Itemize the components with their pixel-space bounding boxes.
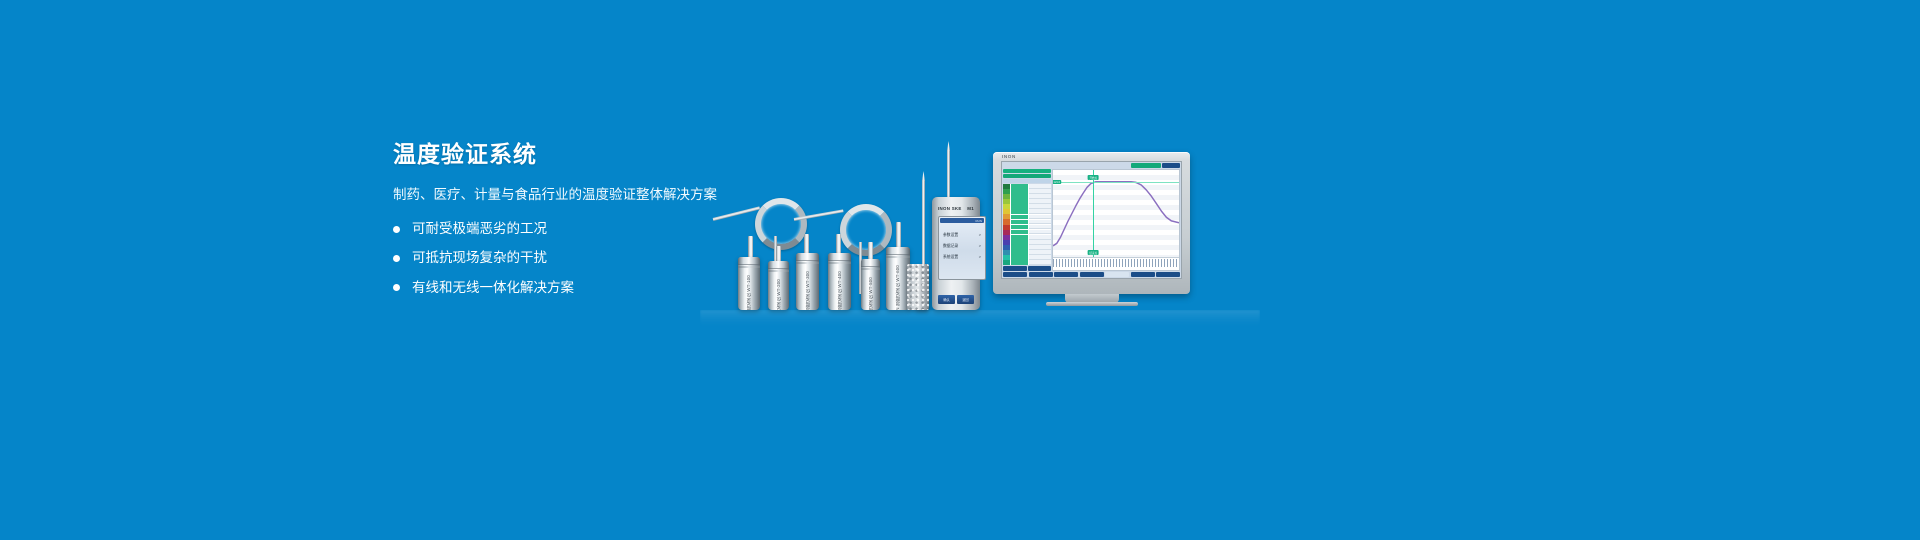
data-logger: INON 温度记录仪 WT-400 (828, 253, 851, 310)
chart-marker-start: 开始点 (1088, 175, 1099, 180)
probe-tail (713, 206, 760, 220)
temperature-chart: 开始点 结束点 121.0 (1053, 170, 1179, 257)
logger-stud (868, 242, 873, 260)
feature-text: 可耐受极端恶劣的工况 (412, 221, 547, 237)
logger-label: INON 温度记录仪 WT-500 (867, 277, 873, 310)
collect-data-button[interactable] (1003, 272, 1027, 277)
handheld-model: M1 (967, 206, 974, 211)
logger-ring (768, 270, 789, 272)
chart-setpoint-label: 121.0 (1053, 180, 1062, 184)
data-logger: INON 温度记录仪 WT-100 (738, 257, 760, 310)
settings-button[interactable] (1054, 272, 1078, 277)
coil-probe-2 (840, 204, 892, 256)
help-button[interactable] (1131, 272, 1155, 277)
logger-ring (738, 266, 760, 268)
porous-filter-probe (907, 264, 929, 310)
logger-label: INON 温度记录仪 WT-600 (895, 265, 901, 310)
chart-series-line (1053, 182, 1179, 246)
channel-value-column (1029, 184, 1051, 265)
chevron-right-icon: > (979, 233, 981, 238)
probe-coil-ring (755, 198, 807, 250)
toolbar-gap (1105, 272, 1129, 277)
logger-ring (861, 268, 880, 270)
handheld-menu-item[interactable]: 系统设置 > (943, 255, 981, 260)
logger-stud (836, 234, 841, 254)
chevron-right-icon: > (979, 255, 981, 260)
logger-stud (896, 222, 901, 248)
cursor-line[interactable] (1093, 170, 1094, 257)
tab-exit[interactable] (1162, 163, 1180, 168)
channel-table-panel (1003, 169, 1051, 271)
handheld-brand-row: INON SKE M1 (932, 206, 980, 211)
bullet-dot-icon (393, 255, 400, 262)
data-logger: INON 温度记录仪 WT-300 (796, 253, 819, 310)
table-header-row (1003, 179, 1051, 183)
channel-color-column (1003, 184, 1010, 265)
print-button[interactable] (1080, 272, 1104, 277)
logger-label: INON 温度记录仪 WT-300 (804, 271, 810, 310)
monitor-display: INON (993, 152, 1190, 294)
software-window: 开始点 结束点 121.0 (1001, 161, 1182, 279)
monitor-base (1046, 302, 1138, 306)
tab-verification-software[interactable] (1131, 163, 1161, 168)
handheld-status-bar: RUN (940, 218, 984, 223)
logger-label: INON 温度记录仪 WT-200 (775, 279, 781, 310)
handheld-menu: 参数设置 > 数据记录 > 系统设置 > (939, 224, 985, 279)
table-title-bar (1003, 169, 1051, 173)
probe-coil-ring (840, 204, 892, 256)
handheld-status: RUN (976, 219, 983, 223)
monitor-brand-logo: INON (1002, 154, 1016, 159)
hero-banner: 温度验证系统 制药、医疗、计量与食品行业的温度验证整体解决方案 可耐受极端恶劣的… (0, 0, 1920, 540)
logger-cap (828, 253, 851, 261)
handheld-screen: RUN 参数设置 > 数据记录 > 系统设置 > (938, 216, 986, 280)
logger-ring (886, 256, 910, 258)
logger-stud (748, 236, 753, 258)
chart-marker-end: 结束点 (1088, 250, 1099, 255)
menu-label: 系统设置 (943, 255, 958, 260)
handheld-keypad: 确认 返回 (938, 295, 974, 304)
menu-label: 参数设置 (943, 233, 958, 238)
logger-label: INON 温度记录仪 WT-400 (836, 271, 842, 310)
software-bottom-toolbar (1002, 271, 1181, 278)
logger-ring (796, 262, 819, 264)
product-reflection (700, 310, 1260, 334)
feature-text: 可抵抗现场复杂的干扰 (412, 250, 547, 266)
logger-ring (828, 262, 851, 264)
handheld-back-button[interactable]: 返回 (957, 295, 974, 304)
table-subtitle-bar (1003, 174, 1051, 178)
menu-label: 数据记录 (943, 244, 958, 249)
coil-probe-1 (755, 198, 807, 250)
report-output-button[interactable] (1029, 272, 1053, 277)
chart-x-axis (1053, 257, 1179, 270)
feature-text: 有线和无线一体化解决方案 (412, 280, 574, 296)
bullet-dot-icon (393, 226, 400, 233)
logger-cap (796, 253, 819, 261)
toolbar-spacer (1003, 163, 1130, 168)
channel-table[interactable] (1003, 184, 1051, 265)
logger-cap (768, 261, 789, 269)
chart-panel: 开始点 结束点 121.0 (1052, 169, 1180, 271)
handheld-menu-item[interactable]: 参数设置 > (943, 233, 981, 238)
data-logger: INON 温度记录仪 WT-200 (768, 261, 789, 310)
handheld-confirm-button[interactable]: 确认 (938, 295, 955, 304)
logger-label: INON 温度记录仪 WT-100 (746, 275, 752, 310)
logger-cap (861, 259, 880, 267)
exit-button[interactable] (1156, 272, 1180, 277)
handheld-brand: INON SKE (938, 206, 962, 211)
logger-stud (776, 246, 781, 262)
channel-status-column (1011, 184, 1028, 265)
software-body: 开始点 结束点 121.0 (1002, 169, 1181, 271)
data-logger: INON 温度记录仪 WT-500 (861, 259, 880, 310)
logger-cap (738, 257, 760, 265)
setpoint-line (1053, 182, 1179, 183)
logger-stud (804, 234, 809, 254)
logger-cap (886, 247, 910, 255)
handheld-reader[interactable]: INON SKE M1 RUN 参数设置 > 数据记录 > (932, 197, 980, 310)
handheld-menu-item[interactable]: 数据记录 > (943, 244, 981, 249)
bullet-dot-icon (393, 284, 400, 291)
software-toolbar (1002, 162, 1181, 169)
monitor-bezel: INON (993, 152, 1190, 294)
chevron-right-icon: > (979, 244, 981, 249)
